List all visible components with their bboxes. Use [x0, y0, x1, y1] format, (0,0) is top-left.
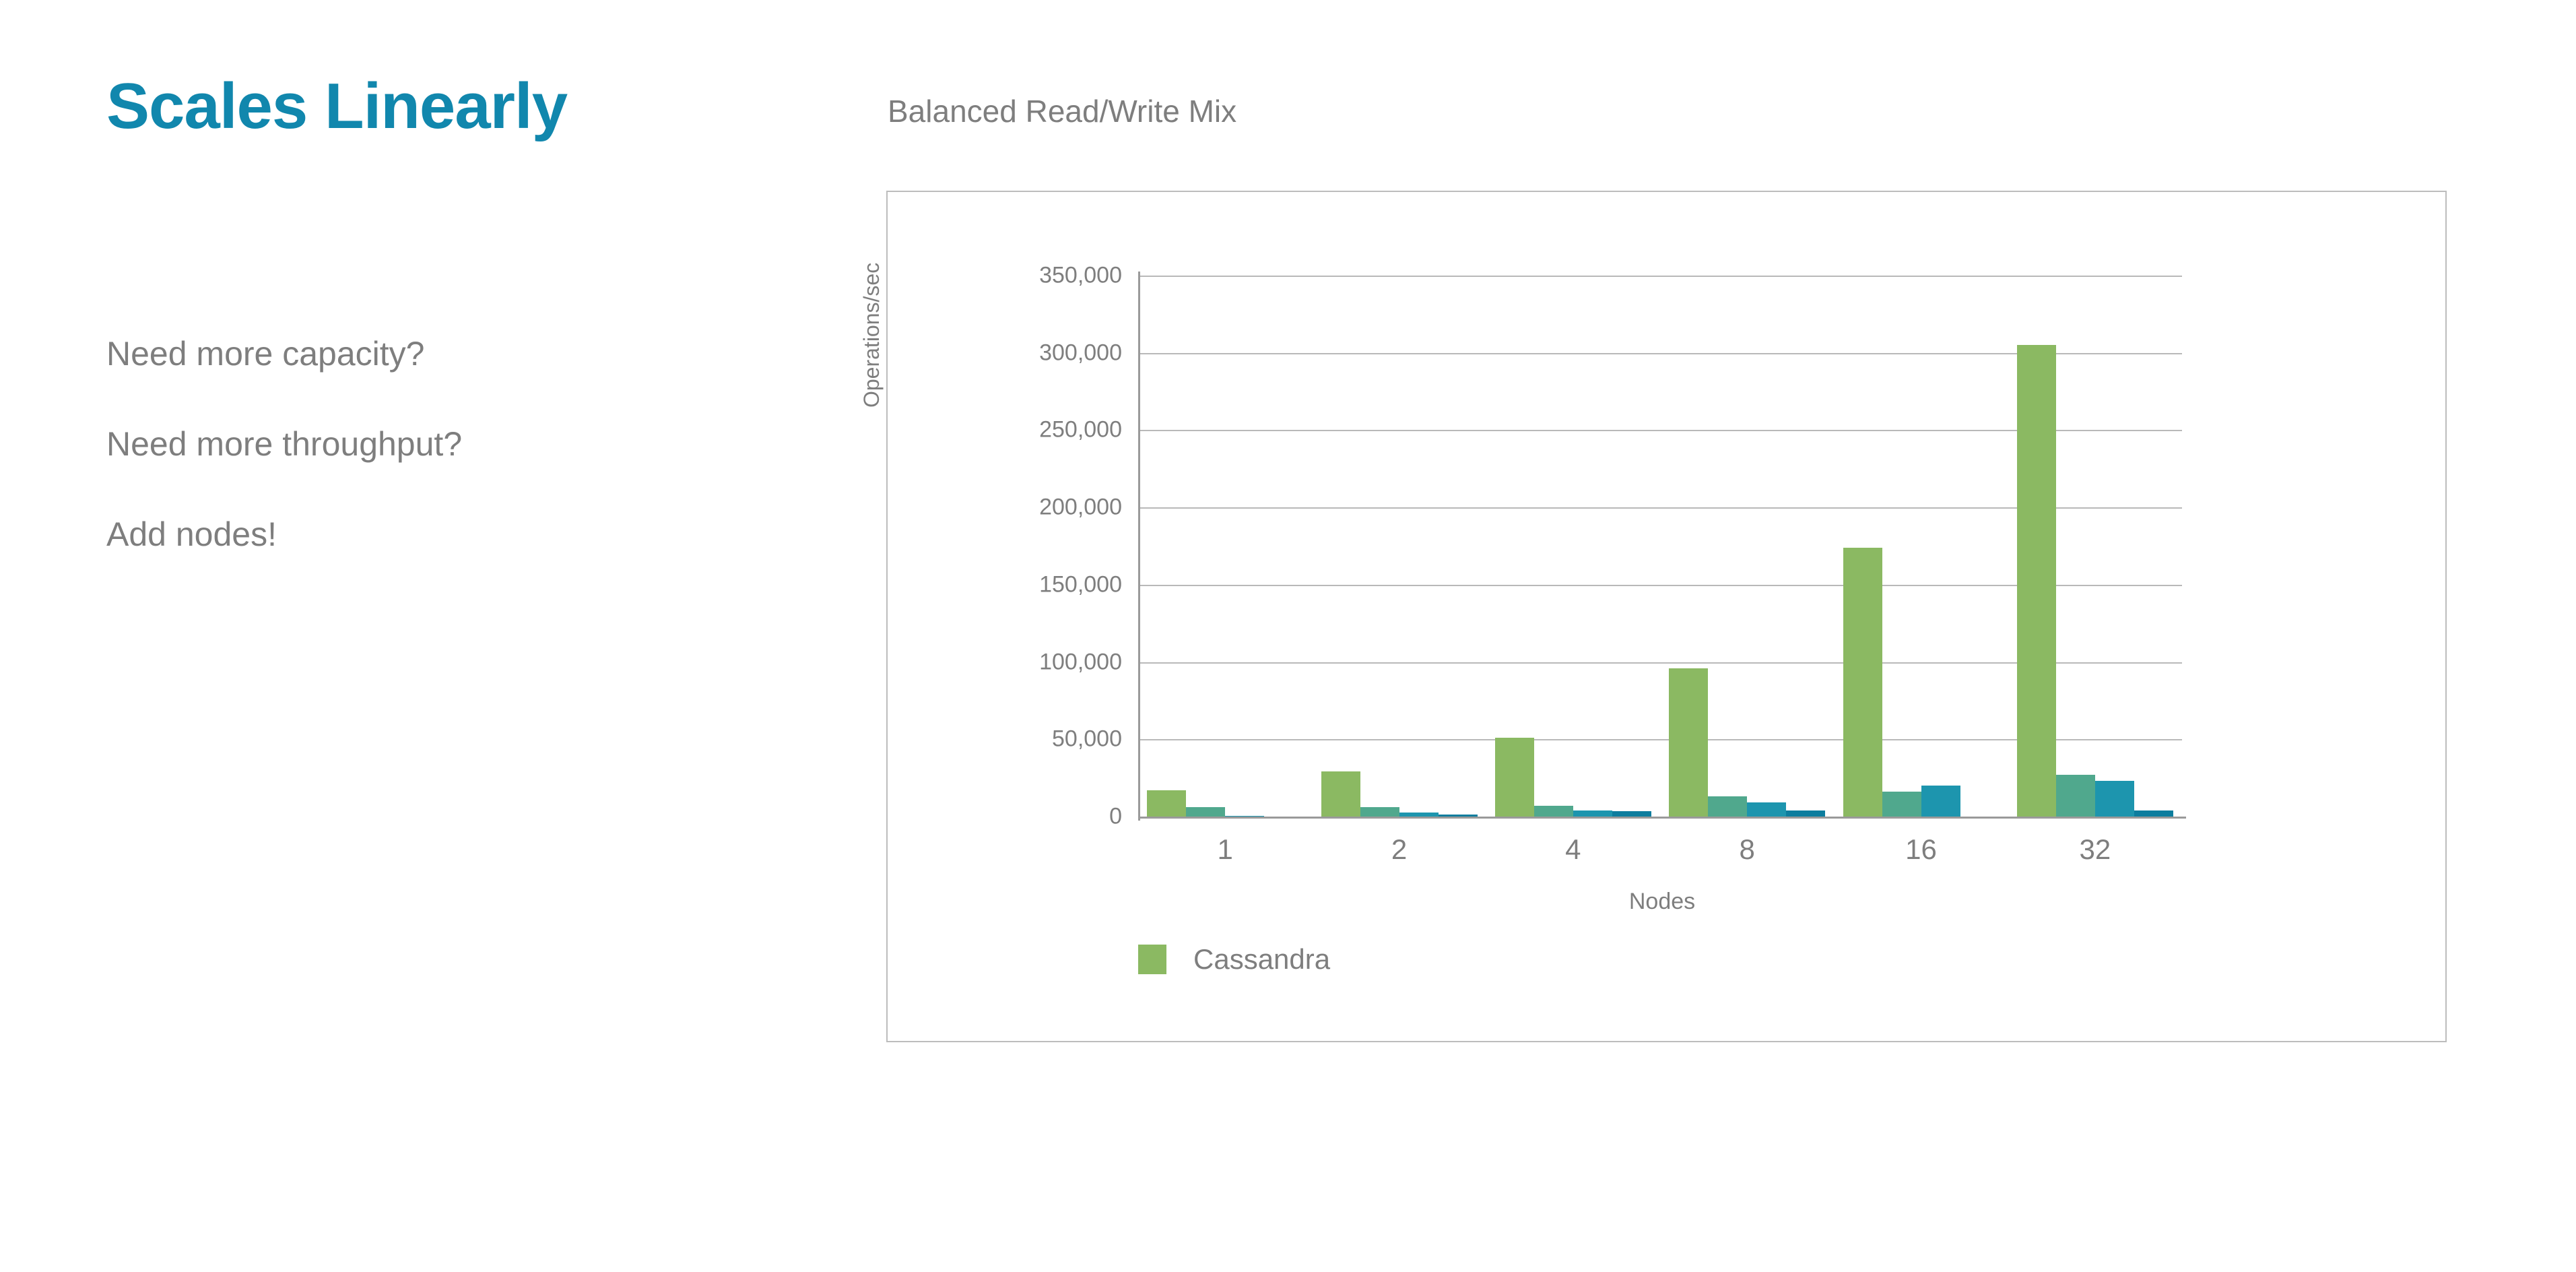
x-axis-tick: 16 [1905, 833, 1937, 866]
y-axis-tick: 200,000 [1039, 495, 1122, 521]
page-title: Scales Linearly [106, 73, 567, 141]
bar[interactable] [1669, 668, 1708, 817]
bar[interactable] [2017, 345, 2056, 817]
bar-group [1495, 276, 1651, 817]
y-axis-label: Operations/sec [859, 125, 884, 408]
bar[interactable] [2134, 810, 2173, 817]
bar[interactable] [1534, 806, 1573, 817]
x-axis-tick: 1 [1217, 833, 1232, 866]
legend-swatch [1138, 945, 1166, 974]
chart-panel: Operations/sec 050,000100,000150,000200,… [886, 191, 2447, 1042]
bar[interactable] [1495, 738, 1534, 817]
bullet-item-capacity: Need more capacity? [106, 337, 713, 371]
bullet-item-add-nodes: Add nodes! [106, 517, 713, 551]
x-axis-tick: 2 [1391, 833, 1407, 866]
x-axis-label: Nodes [1138, 889, 2186, 915]
bar-group [1843, 276, 2000, 817]
bar[interactable] [1186, 807, 1225, 817]
y-axis-tick: 300,000 [1039, 340, 1122, 366]
y-axis-tick: 100,000 [1039, 649, 1122, 675]
y-axis-tick: 50,000 [1052, 726, 1122, 753]
chart-subtitle: Balanced Read/Write Mix [888, 93, 1236, 129]
y-axis-tick: 0 [1109, 804, 1122, 830]
bar[interactable] [1573, 810, 1612, 817]
bar[interactable] [2056, 775, 2095, 817]
bar[interactable] [2095, 781, 2134, 817]
bar-group [1147, 276, 1303, 817]
x-axis-tick: 4 [1565, 833, 1581, 866]
x-axis-line [1138, 817, 2186, 819]
bullet-list: Need more capacity? Need more throughput… [106, 337, 713, 608]
plot-area [1138, 276, 2182, 817]
y-axis-tick: 350,000 [1039, 263, 1122, 289]
bar[interactable] [1786, 810, 1825, 817]
bullet-item-throughput: Need more throughput? [106, 427, 713, 461]
bar[interactable] [1321, 771, 1360, 817]
y-axis-tick-labels: 050,000100,000150,000200,000250,000300,0… [888, 192, 1122, 1041]
bar[interactable] [1147, 790, 1186, 817]
chart-legend: Cassandra [1138, 943, 1330, 976]
bar[interactable] [1882, 792, 1921, 817]
bar[interactable] [1921, 786, 1960, 817]
x-axis-tick: 32 [2079, 833, 2111, 866]
bar[interactable] [1747, 802, 1786, 817]
y-axis-tick: 150,000 [1039, 571, 1122, 598]
bar[interactable] [1708, 796, 1747, 817]
x-axis-tick: 8 [1739, 833, 1754, 866]
bar[interactable] [1612, 811, 1651, 817]
y-axis-line [1138, 272, 1140, 821]
bar[interactable] [1843, 548, 1882, 817]
bar-group [2017, 276, 2173, 817]
legend-label: Cassandra [1193, 943, 1330, 976]
bar-group [1321, 276, 1478, 817]
bar-group [1669, 276, 1825, 817]
bar[interactable] [1360, 807, 1399, 817]
y-axis-tick: 250,000 [1039, 417, 1122, 443]
